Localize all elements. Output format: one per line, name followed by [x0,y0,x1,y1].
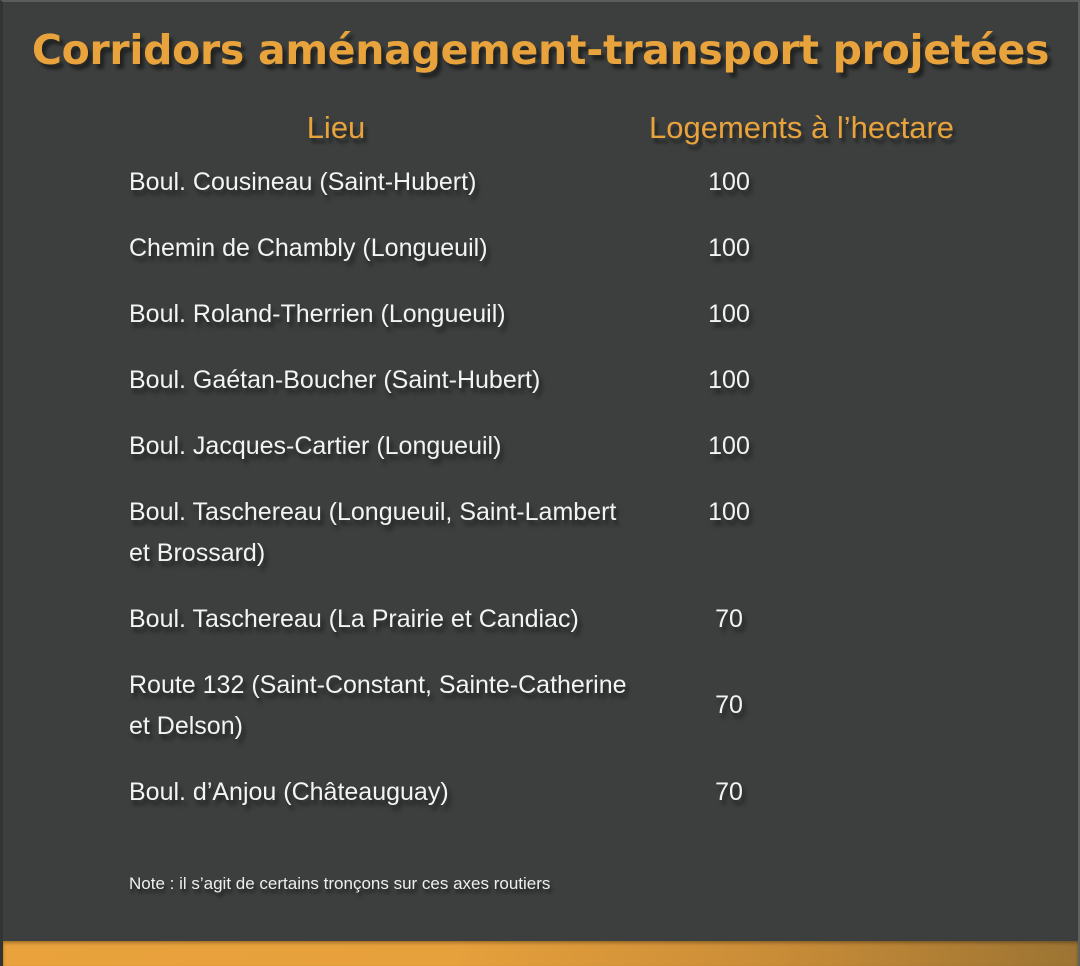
table-cell-densite-text: 100 [708,228,750,269]
table-cell-lieu: Route 132 (Saint-Constant, Sainte-Cather… [3,665,649,747]
density-table: Lieu Logements à l’hectare Boul. Cousine… [3,110,1078,838]
table-cell-lieu: Boul. Gaétan-Boucher (Saint-Hubert) [3,360,649,401]
table-row: Boul. Taschereau (La Prairie et Candiac)… [3,599,1078,640]
table-cell-densite: 100 [649,426,809,467]
column-header-lieu: Lieu [307,110,366,146]
table-cell-densite-text: 100 [708,162,750,203]
table-cell-densite: 70 [649,772,809,813]
table-cell-densite: 100 [649,492,809,533]
column-header-densite-cell: Logements à l’hectare [649,110,809,146]
table-cell-lieu: Boul. Taschereau (La Prairie et Candiac) [3,599,649,640]
table-row: Boul. Gaétan-Boucher (Saint-Hubert) 100 [3,360,1078,401]
table-cell-densite-text: 70 [715,599,743,640]
slide-canvas: Corridors aménagement-transport projetée… [0,0,1080,966]
table-cell-lieu-text: Boul. Cousineau (Saint-Hubert) [129,168,476,196]
table-row: Chemin de Chambly (Longueuil) 100 [3,228,1078,269]
table-cell-densite-text: 70 [715,772,743,813]
bottom-accent-bar [3,941,1078,966]
table-row: Boul. Roland-Therrien (Longueuil) 100 [3,294,1078,335]
table-row: Boul. Cousineau (Saint-Hubert) 100 [3,162,1078,203]
table-cell-lieu-text: Boul. Roland-Therrien (Longueuil) [129,300,506,328]
table-cell-lieu-text: Boul. Taschereau (La Prairie et Candiac) [129,605,579,633]
table-cell-lieu: Boul. Jacques-Cartier (Longueuil) [3,426,649,467]
table-cell-lieu: Chemin de Chambly (Longueuil) [3,228,649,269]
column-header-densite: Logements à l’hectare [649,110,954,145]
table-cell-lieu-text: Boul. Jacques-Cartier (Longueuil) [129,432,501,460]
table-cell-lieu: Boul. Cousineau (Saint-Hubert) [3,162,649,203]
page-title: Corridors aménagement-transport projetée… [3,26,1078,74]
column-header-lieu-cell: Lieu [3,110,649,146]
table-row: Boul. Taschereau (Longueuil, Saint-Lambe… [3,492,1078,574]
table-row: Boul. Jacques-Cartier (Longueuil) 100 [3,426,1078,467]
table-cell-densite-text: 100 [708,426,750,467]
table-cell-densite: 70 [649,599,809,640]
table-cell-densite: 100 [649,228,809,269]
table-cell-densite: 100 [649,360,809,401]
table-row: Boul. d’Anjou (Châteauguay) 70 [3,772,1078,813]
table-cell-lieu: Boul. d’Anjou (Châteauguay) [3,772,649,813]
table-cell-densite-text: 70 [715,665,743,726]
table-cell-densite: 100 [649,294,809,335]
table-cell-lieu-text: Boul. Taschereau (Longueuil, Saint-Lambe… [129,498,616,567]
table-cell-densite: 100 [649,162,809,203]
table-cell-lieu: Boul. Roland-Therrien (Longueuil) [3,294,649,335]
table-cell-densite: 70 [649,665,809,726]
table-cell-lieu: Boul. Taschereau (Longueuil, Saint-Lambe… [3,492,649,574]
table-cell-lieu-text: Chemin de Chambly (Longueuil) [129,234,488,262]
table-cell-densite-text: 100 [708,492,750,533]
table-cell-lieu-text: Route 132 (Saint-Constant, Sainte-Cather… [129,671,627,740]
table-cell-densite-text: 100 [708,294,750,335]
table-cell-lieu-text: Boul. d’Anjou (Châteauguay) [129,778,449,806]
table-cell-densite-text: 100 [708,360,750,401]
table-row: Route 132 (Saint-Constant, Sainte-Cather… [3,665,1078,747]
table-cell-lieu-text: Boul. Gaétan-Boucher (Saint-Hubert) [129,366,540,394]
table-footnote: Note : il s’agit de certains tronçons su… [129,874,550,894]
table-header-row: Lieu Logements à l’hectare [3,110,1078,162]
